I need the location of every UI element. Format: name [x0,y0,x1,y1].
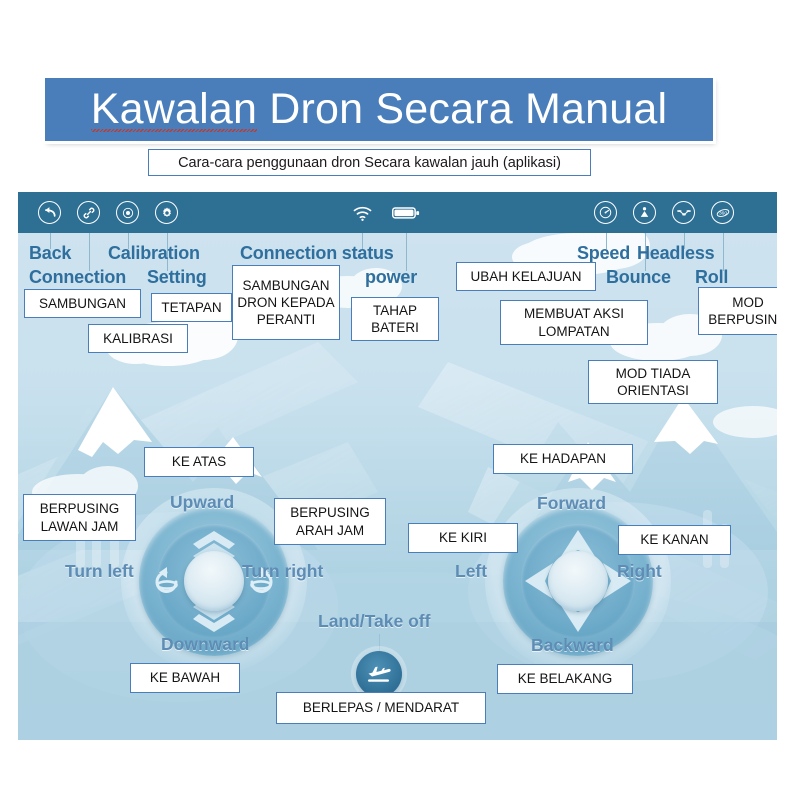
right-joystick-label-backward: Backward [531,635,614,656]
right-joystick-label-right: Right [617,561,662,582]
headless-drone-icon[interactable] [672,201,695,224]
svg-text:360: 360 [718,210,726,216]
annotation-connection-status: Connection status [240,243,394,264]
back-icon[interactable] [38,201,61,224]
callout-ke-hadapan: KE HADAPAN [493,444,633,474]
annotation-connection: Connection [29,267,126,288]
callout-ke-bawah: KE BAWAH [130,663,240,693]
link-icon[interactable] [77,201,100,224]
right-joystick-label-forward: Forward [537,493,606,514]
callout-membuat-aksi: MEMBUAT AKSI LOMPATAN [500,300,648,345]
gear-icon[interactable] [155,201,178,224]
annotation-power: power [365,267,417,288]
page-title-banner: Kawalan Dron Secara Manual [45,78,713,141]
app-toolbar: 360 [18,192,777,233]
page-title: Kawalan Dron Secara Manual [91,85,668,134]
subtitle-text: Cara-cara penggunaan dron Secara kawalan… [178,155,561,171]
annotation-calibration: Calibration [108,243,200,264]
left-joystick-label-up: Upward [170,492,234,513]
record-icon[interactable] [116,201,139,224]
wifi-icon [350,203,374,223]
annotation-back: Back [29,243,71,264]
callout-ke-belakang: KE BELAKANG [497,664,633,694]
callout-sambungan-dron: SAMBUNGAN DRON KEPADA PERANTI [232,265,340,340]
callout-berlepas-mendarat: BERLEPAS / MENDARAT [276,692,486,724]
annotation-roll: Roll [695,267,728,288]
callout-sambungan: SAMBUNGAN [24,289,141,318]
callout-berpusing-lawan-jam: BERPUSING LAWAN JAM [23,494,136,541]
leader-takeoff [379,634,380,652]
annotation-bounce: Bounce [606,267,671,288]
left-joystick-label-down: Downward [161,634,249,655]
callout-ubah-kelajuan: UBAH KELAJUAN [456,262,596,291]
annotation-headless: Headless [637,243,714,264]
left-joystick-label-turn-left: Turn left [65,561,134,582]
title-word-1: Kawalan [91,85,257,134]
joystick-knob[interactable] [184,551,244,611]
callout-ke-atas: KE ATAS [144,447,254,477]
annotation-setting: Setting [147,267,207,288]
title-space-3 [513,85,525,133]
battery-icon [391,203,421,223]
subtitle-box: Cara-cara penggunaan dron Secara kawalan… [148,149,591,176]
left-joystick-label-turn-right: Turn right [242,561,323,582]
title-word-4: Manual [525,85,667,133]
drone-app-screenshot: 360 Back Connection Calibration Setting … [18,192,777,740]
roll-360-icon[interactable]: 360 [711,201,734,224]
title-space-1 [257,85,269,133]
title-space-2 [363,85,375,133]
callout-berpusing-arah-jam: BERPUSING ARAH JAM [274,498,386,545]
callout-tahap-bateri: TAHAP BATERI [351,297,439,341]
annotation-speed: Speed [577,243,630,264]
takeoff-label: Land/Take off [318,611,430,632]
callout-kalibrasi: KALIBRASI [88,324,188,353]
takeoff-land-button[interactable] [356,651,402,697]
bounce-icon[interactable] [633,201,656,224]
leader-connection [89,233,90,271]
title-word-2: Dron [269,85,363,133]
callout-mod-tiada-orientasi: MOD TIADA ORIENTASI [588,360,718,404]
leader-power [406,233,407,271]
title-word-3: Secara [375,85,512,133]
callout-mod-berpusing: MOD BERPUSING [698,287,777,335]
leader-roll [723,233,724,271]
right-joystick-label-left: Left [455,561,487,582]
callout-tetapan: TETAPAN [151,293,232,322]
airplane-takeoff-icon [366,663,392,685]
callout-ke-kiri: KE KIRI [408,523,518,553]
speed-gauge-icon[interactable] [594,201,617,224]
joystick-knob[interactable] [548,551,608,611]
callout-ke-kanan: KE KANAN [618,525,731,555]
